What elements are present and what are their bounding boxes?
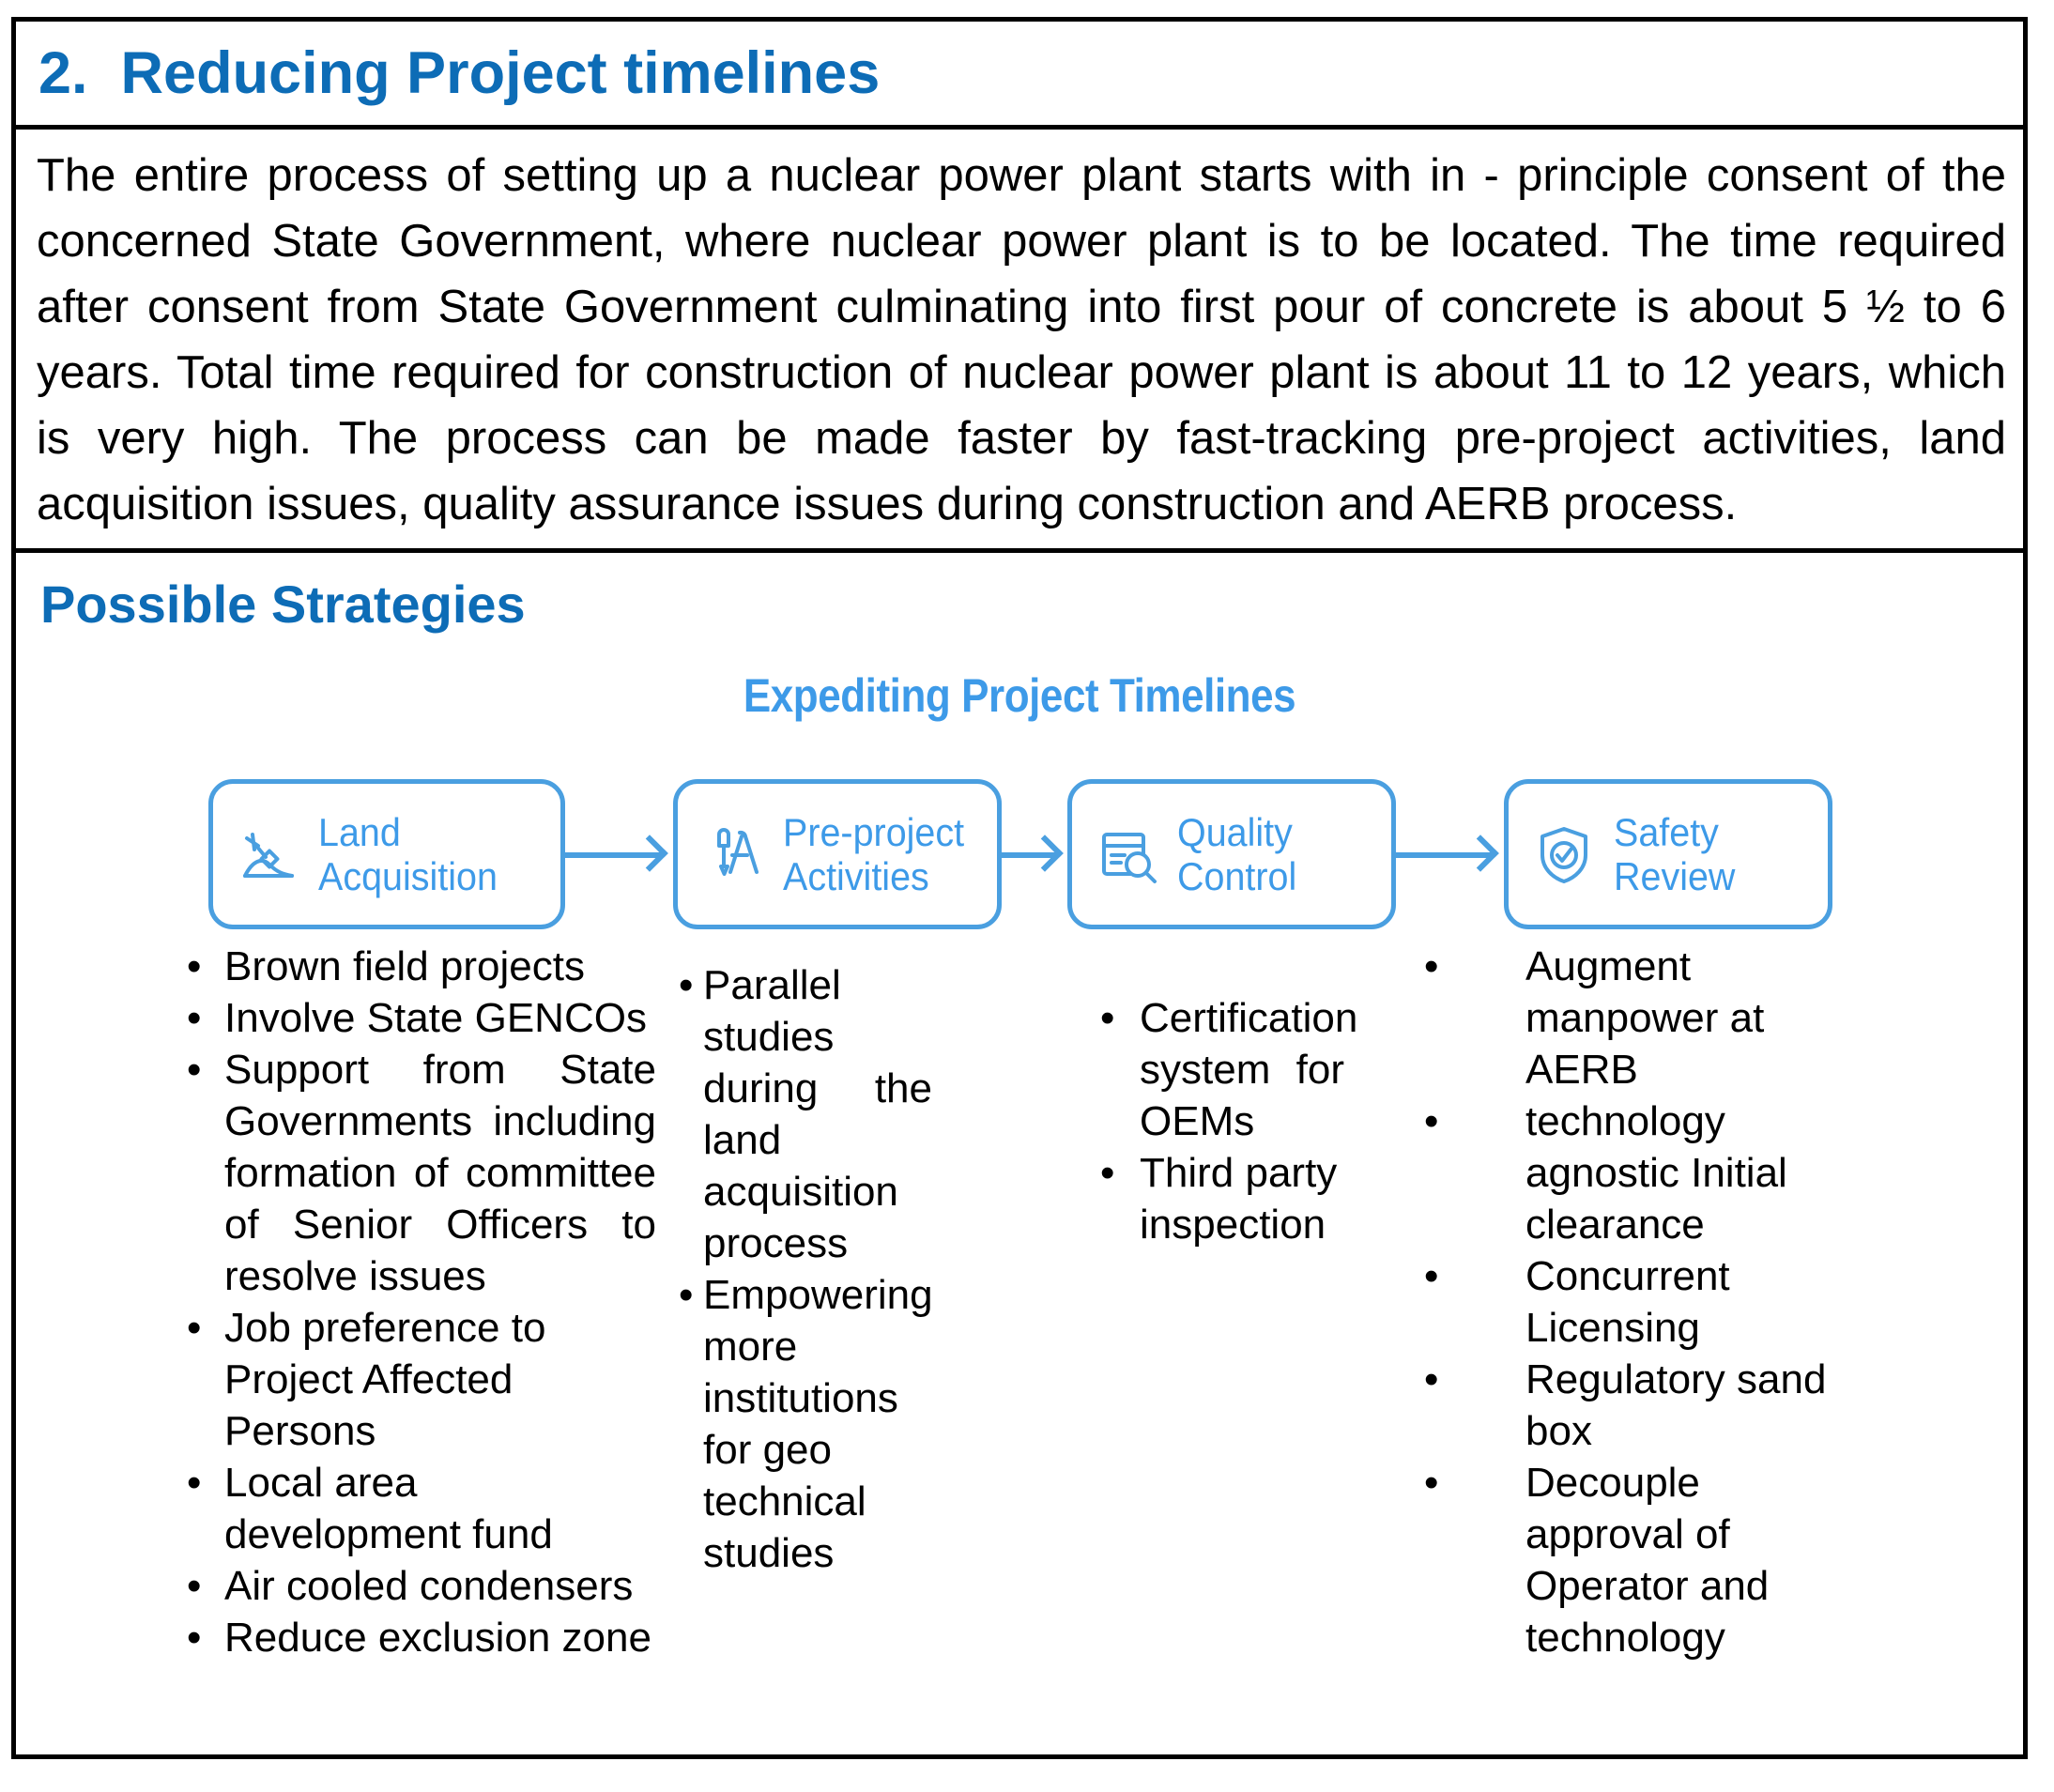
list-item: •Local area development fund — [187, 1457, 656, 1560]
flow-arrow-1 — [565, 852, 661, 858]
bullet-marker: • — [679, 959, 693, 1011]
bullet-marker: • — [1100, 992, 1114, 1044]
possible-strategies-band: Possible Strategies Expediting Project T… — [16, 553, 2023, 1720]
bullet-marker: • — [1100, 1147, 1114, 1199]
list-item-text: Job preference to Project Affected Perso… — [224, 1302, 656, 1457]
flow-arrow-2 — [1002, 852, 1056, 858]
flow-node-label: Pre-project Activities — [783, 810, 964, 898]
list-item-text: Support from State Governments including… — [224, 1044, 656, 1302]
diagram-title: Expediting Project Timelines — [136, 668, 1902, 723]
list-item: •Decouple approval of Operator and techn… — [1424, 1457, 1865, 1663]
list-item: •Augment manpower at AERB — [1424, 941, 1865, 1095]
list-item: •Reduce exclusion zone — [187, 1612, 656, 1663]
bullet-marker: • — [187, 1302, 201, 1354]
bullet-marker: • — [187, 1457, 201, 1509]
flow-arrow-3 — [1396, 852, 1492, 858]
flow-node-label: Safety Review — [1614, 810, 1735, 898]
bullet-marker: • — [1424, 1354, 1438, 1405]
list-item-text: Reduce exclusion zone — [224, 1612, 656, 1663]
list-item: •Brown field projects — [187, 941, 656, 992]
expediting-timelines-diagram: Expediting Project Timelines — [16, 668, 2023, 1720]
bullet-column-pre-project-activities: •Parallel studies during the land acquis… — [679, 959, 932, 1579]
section-body-band: The entire process of setting up a nucle… — [16, 130, 2023, 553]
list-item: •Support from State Governments includin… — [187, 1044, 656, 1302]
section-header-band: 2. Reducing Project timelines — [16, 22, 2023, 130]
bullet-marker: • — [679, 1269, 693, 1321]
list-item: •Certification system for OEMs — [1100, 992, 1344, 1147]
list-item-text: Decouple approval of Operator and techno… — [1525, 1457, 1865, 1663]
list-item: •Air cooled condensers — [187, 1560, 656, 1612]
flow-node-label: Land Acquisition — [318, 810, 498, 898]
bullet-marker: • — [1424, 941, 1438, 992]
bullet-marker: • — [187, 941, 201, 992]
list-item-text: Concurrent Licensing — [1525, 1250, 1865, 1354]
list-item-text: Regulatory sand box — [1525, 1354, 1865, 1457]
flow-node-safety-review[interactable]: Safety Review — [1504, 779, 1832, 929]
bullet-column-quality-control: •Certification system for OEMs •Third pa… — [1100, 992, 1344, 1250]
list-item: •Involve State GENCOs — [187, 992, 656, 1044]
list-item-text: Brown field projects — [224, 941, 656, 992]
flow-node-quality-control[interactable]: Quality Control — [1067, 779, 1396, 929]
bullet-marker: • — [187, 1560, 201, 1612]
list-item-text: Local area development fund — [224, 1457, 656, 1560]
list-item: •Job preference to Project Affected Pers… — [187, 1302, 656, 1457]
list-item-text: technology agnostic Initial clearance — [1525, 1095, 1865, 1250]
shield-check-icon — [1529, 819, 1599, 889]
list-item: •Third party inspection — [1100, 1147, 1344, 1250]
bullet-column-land-acquisition: •Brown field projects •Involve State GEN… — [187, 941, 656, 1663]
compass-divider-icon — [698, 819, 768, 889]
list-item-text: Third party inspection — [1140, 1147, 1344, 1250]
document-page: 2. Reducing Project timelines The entire… — [11, 17, 2028, 1759]
list-item-text: Certification system for OEMs — [1140, 992, 1344, 1147]
list-item-text: Air cooled condensers — [224, 1560, 656, 1612]
document-magnifier-icon — [1093, 819, 1162, 889]
bullet-marker: • — [1424, 1095, 1438, 1147]
list-item: •Parallel studies during the land acquis… — [679, 959, 932, 1269]
bullet-column-safety-review: •Augment manpower at AERB •technology ag… — [1424, 941, 1865, 1663]
list-item: •Concurrent Licensing — [1424, 1250, 1865, 1354]
section-paragraph: The entire process of setting up a nucle… — [37, 143, 2006, 537]
bullet-marker: • — [187, 1612, 201, 1663]
list-item-text: Parallel studies during the land acquisi… — [703, 959, 932, 1269]
list-item: •technology agnostic Initial clearance — [1424, 1095, 1865, 1250]
list-item: •Regulatory sand box — [1424, 1354, 1865, 1457]
bullet-marker: • — [187, 1044, 201, 1095]
possible-strategies-title: Possible Strategies — [16, 553, 2023, 635]
bullet-marker: • — [1424, 1457, 1438, 1509]
flow-node-pre-project-activities[interactable]: Pre-project Activities — [673, 779, 1002, 929]
page-title: 2. Reducing Project timelines — [16, 39, 880, 107]
pickaxe-mound-icon — [234, 819, 303, 889]
bullet-marker: • — [1424, 1250, 1438, 1302]
flow-node-label: Quality Control — [1177, 810, 1296, 898]
flow-node-land-acquisition[interactable]: Land Acquisition — [208, 779, 565, 929]
list-item-text: Augment manpower at AERB — [1525, 941, 1865, 1095]
process-flow: Land Acquisition Pre-project Acti — [16, 779, 2023, 929]
list-item-text: Empowering more institutions for geo tec… — [703, 1269, 932, 1579]
list-item-text: Involve State GENCOs — [224, 992, 656, 1044]
bullet-marker: • — [187, 992, 201, 1044]
list-item: •Empowering more institutions for geo te… — [679, 1269, 932, 1579]
